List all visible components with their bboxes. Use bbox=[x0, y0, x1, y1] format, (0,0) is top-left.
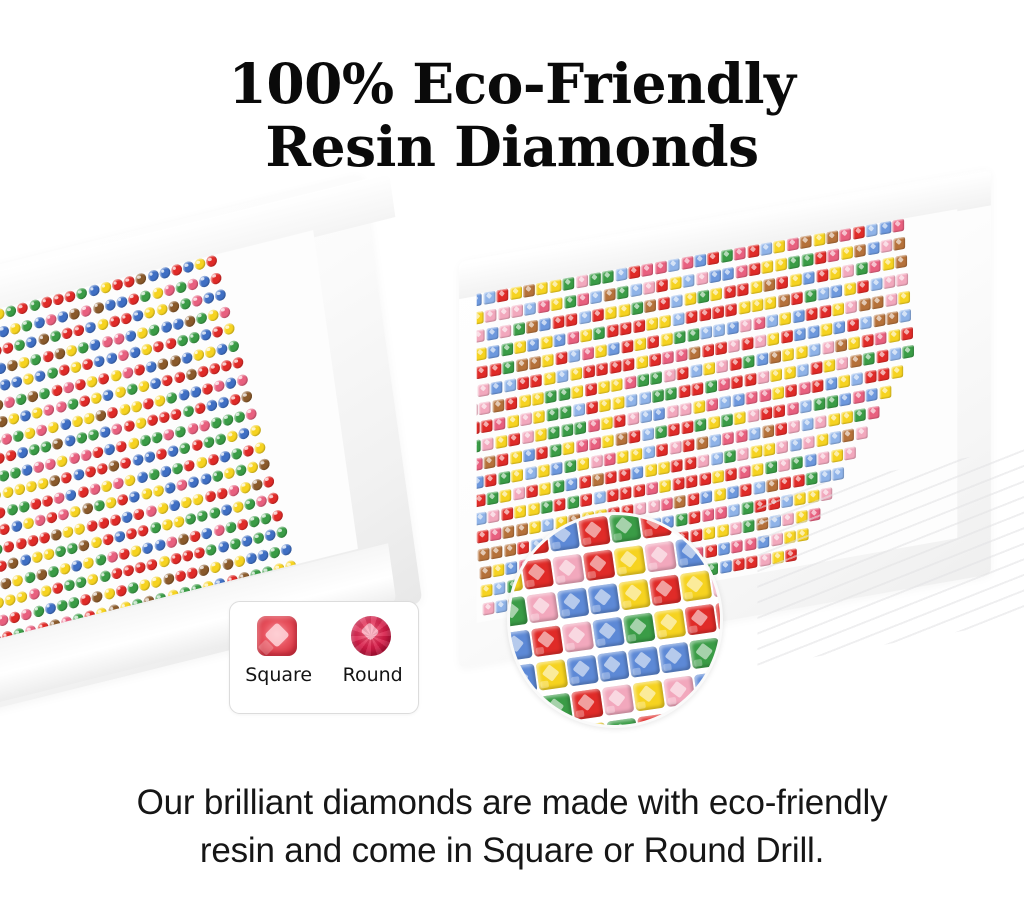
square-drill bbox=[793, 309, 805, 323]
round-drill bbox=[236, 517, 248, 531]
square-drill bbox=[753, 481, 765, 495]
square-drill bbox=[771, 532, 783, 546]
round-drill bbox=[74, 522, 86, 536]
square-drill bbox=[514, 340, 526, 354]
round-drill bbox=[111, 422, 123, 436]
round-drill bbox=[40, 584, 52, 598]
square-drill bbox=[794, 327, 806, 341]
round-drill bbox=[5, 304, 17, 318]
square-drill bbox=[692, 382, 704, 396]
round-drill bbox=[176, 478, 188, 492]
square-drill bbox=[659, 479, 671, 493]
round-drill bbox=[17, 301, 29, 315]
round-drill bbox=[0, 432, 12, 446]
square-drill bbox=[797, 528, 809, 542]
square-drill bbox=[713, 323, 725, 337]
round-drill bbox=[93, 499, 105, 513]
round-drill bbox=[3, 539, 15, 553]
magnified-square-drill bbox=[510, 697, 543, 728]
square-drill bbox=[757, 370, 769, 384]
round-drill bbox=[34, 369, 46, 383]
round-drill bbox=[71, 414, 83, 428]
square-drill bbox=[813, 397, 825, 411]
round-drill bbox=[223, 466, 235, 480]
square-drill bbox=[495, 435, 507, 449]
round-drill bbox=[186, 421, 198, 435]
round-drill bbox=[191, 438, 203, 452]
round-drill bbox=[26, 533, 38, 547]
round-drill bbox=[198, 274, 210, 288]
round-drill bbox=[139, 433, 151, 447]
round-drill bbox=[4, 593, 16, 607]
round-drill bbox=[86, 519, 98, 533]
square-drill bbox=[709, 269, 721, 283]
round-drill bbox=[121, 366, 133, 380]
square-drill bbox=[817, 287, 829, 301]
round-drill bbox=[177, 532, 189, 546]
round-drill bbox=[160, 464, 172, 478]
square-drill bbox=[854, 244, 866, 258]
square-drill bbox=[546, 407, 558, 421]
round-drill bbox=[104, 298, 116, 312]
round-drill bbox=[49, 474, 61, 488]
round-drill bbox=[239, 480, 251, 494]
square-drill bbox=[735, 264, 747, 278]
round-drill bbox=[75, 431, 87, 445]
round-drill bbox=[210, 560, 222, 574]
round-drill bbox=[74, 377, 86, 391]
square-drill bbox=[585, 382, 597, 396]
square-drill bbox=[661, 332, 673, 346]
drill-shape-legend: Square Round bbox=[229, 601, 419, 714]
round-drill bbox=[122, 564, 134, 578]
square-drill bbox=[477, 403, 478, 417]
square-drill bbox=[812, 379, 824, 393]
round-drill bbox=[151, 430, 163, 444]
round-drill bbox=[147, 269, 159, 283]
caption-line-1: Our brilliant diamonds are made with eco… bbox=[0, 779, 1024, 827]
square-drill bbox=[516, 358, 528, 372]
square-drill bbox=[885, 293, 897, 307]
square-drill bbox=[799, 381, 811, 395]
round-drill bbox=[233, 554, 245, 568]
round-drill bbox=[64, 434, 76, 448]
square-drill bbox=[819, 305, 831, 319]
square-drill bbox=[844, 282, 856, 296]
square-drill bbox=[659, 314, 671, 328]
round-drill bbox=[89, 338, 101, 352]
product-caption: Our brilliant diamonds are made with eco… bbox=[0, 779, 1024, 875]
round-drill bbox=[21, 463, 33, 477]
square-drill bbox=[756, 517, 768, 531]
round-drill bbox=[117, 493, 129, 507]
square-drill bbox=[870, 277, 882, 291]
square-drill bbox=[477, 511, 487, 525]
round-drill bbox=[33, 460, 45, 474]
round-drill bbox=[114, 530, 126, 544]
square-drill bbox=[520, 412, 532, 426]
square-drill bbox=[867, 406, 879, 420]
round-drill bbox=[191, 294, 203, 308]
magnified-square-drill bbox=[545, 726, 578, 728]
square-drill bbox=[806, 307, 818, 321]
square-drill bbox=[607, 488, 619, 502]
square-drill bbox=[671, 294, 683, 308]
square-drill bbox=[602, 270, 614, 284]
square-drill bbox=[652, 389, 664, 403]
magnified-square-drill bbox=[507, 562, 523, 594]
square-drill bbox=[815, 250, 827, 264]
square-drill bbox=[822, 341, 834, 355]
round-drill bbox=[162, 572, 174, 586]
square-drill bbox=[790, 273, 802, 287]
square-drill bbox=[797, 363, 809, 377]
round-drill bbox=[53, 346, 65, 360]
round-drill bbox=[0, 469, 9, 483]
square-drill bbox=[854, 408, 866, 422]
magnified-square-drill bbox=[668, 709, 701, 728]
square-drill bbox=[762, 424, 774, 438]
round-drill bbox=[43, 403, 55, 417]
round-drill bbox=[163, 283, 175, 297]
square-drill bbox=[669, 276, 681, 290]
round-gem-icon bbox=[351, 616, 391, 656]
square-drill bbox=[901, 327, 913, 341]
round-drill bbox=[195, 455, 207, 469]
square-drill bbox=[895, 255, 907, 269]
square-drill bbox=[661, 497, 673, 511]
square-drill bbox=[712, 470, 724, 484]
square-drill bbox=[725, 303, 737, 317]
round-drill bbox=[47, 564, 59, 578]
round-drill bbox=[198, 563, 210, 577]
round-drill bbox=[18, 355, 30, 369]
magnified-square-drill bbox=[684, 604, 717, 636]
round-drill bbox=[102, 388, 114, 402]
square-drill bbox=[728, 503, 740, 517]
round-drill bbox=[138, 380, 150, 394]
round-drill bbox=[105, 496, 117, 510]
square-gem-icon bbox=[257, 616, 297, 656]
round-drill bbox=[41, 494, 53, 508]
square-drill bbox=[542, 353, 554, 367]
square-drill bbox=[615, 432, 627, 446]
round-drill bbox=[4, 449, 16, 463]
magnified-square-drill bbox=[675, 536, 708, 568]
square-drill bbox=[541, 500, 553, 514]
square-drill bbox=[768, 496, 780, 510]
square-drill bbox=[513, 486, 525, 500]
square-drill bbox=[702, 343, 714, 357]
square-drill bbox=[677, 366, 689, 380]
round-drill bbox=[66, 542, 78, 556]
square-drill bbox=[708, 251, 720, 265]
round-drill bbox=[174, 424, 186, 438]
round-drill bbox=[71, 559, 83, 573]
square-drill bbox=[818, 451, 830, 465]
square-drill bbox=[645, 299, 657, 313]
square-drill bbox=[525, 466, 537, 480]
square-drill bbox=[526, 484, 538, 498]
square-drill bbox=[809, 507, 821, 521]
round-drill bbox=[6, 503, 18, 517]
square-drill bbox=[803, 271, 815, 285]
round-drill bbox=[216, 342, 228, 356]
square-drill bbox=[810, 361, 822, 375]
square-drill bbox=[775, 422, 787, 436]
round-drill bbox=[170, 552, 182, 566]
round-drill bbox=[0, 361, 7, 375]
square-drill bbox=[497, 288, 509, 302]
round-drill bbox=[264, 528, 276, 542]
square-drill bbox=[700, 325, 712, 339]
round-drill bbox=[217, 540, 229, 554]
square-drill bbox=[643, 281, 655, 295]
round-drill bbox=[247, 461, 259, 475]
round-drill bbox=[9, 321, 21, 335]
round-drill bbox=[152, 340, 164, 354]
round-drill bbox=[67, 397, 79, 411]
square-drill bbox=[687, 492, 699, 506]
square-drill bbox=[665, 387, 677, 401]
round-drill bbox=[0, 505, 6, 519]
round-drill bbox=[144, 306, 156, 320]
square-drill bbox=[588, 418, 600, 432]
square-drill bbox=[483, 455, 495, 469]
round-drill bbox=[108, 315, 120, 329]
square-drill bbox=[645, 463, 657, 477]
square-drill bbox=[501, 342, 513, 356]
square-drill bbox=[684, 456, 696, 470]
round-drill bbox=[29, 497, 41, 511]
round-drill bbox=[99, 281, 111, 295]
magnified-square-drill bbox=[637, 713, 670, 728]
square-drill bbox=[763, 442, 775, 456]
square-drill bbox=[771, 368, 783, 382]
round-drill bbox=[137, 524, 149, 538]
round-drill bbox=[92, 301, 104, 315]
square-drill bbox=[598, 380, 610, 394]
square-drill bbox=[494, 581, 506, 595]
square-drill bbox=[485, 309, 497, 323]
square-drill bbox=[759, 388, 771, 402]
round-drill bbox=[219, 305, 231, 319]
square-drill bbox=[533, 410, 545, 424]
round-drill bbox=[61, 326, 73, 340]
round-drill bbox=[62, 525, 74, 539]
square-drill bbox=[560, 405, 572, 419]
square-drill bbox=[630, 283, 642, 297]
round-drill bbox=[220, 503, 232, 517]
square-drill bbox=[734, 411, 746, 425]
square-drill bbox=[689, 346, 701, 360]
round-drill bbox=[269, 545, 281, 559]
square-drill bbox=[477, 293, 482, 307]
square-drill bbox=[883, 275, 895, 289]
round-drill bbox=[189, 529, 201, 543]
round-drill bbox=[168, 498, 180, 512]
square-drill bbox=[605, 306, 617, 320]
round-drill bbox=[194, 257, 206, 271]
square-drill bbox=[526, 320, 538, 334]
square-drill bbox=[539, 482, 551, 496]
round-drill bbox=[7, 556, 19, 570]
square-drill bbox=[477, 311, 484, 325]
square-drill bbox=[482, 437, 494, 451]
round-drill bbox=[252, 531, 264, 545]
round-drill bbox=[153, 538, 165, 552]
square-drill bbox=[840, 392, 852, 406]
square-drill bbox=[760, 406, 772, 420]
round-drill bbox=[207, 452, 219, 466]
square-drill bbox=[602, 434, 614, 448]
square-drill bbox=[477, 475, 484, 489]
square-drill bbox=[746, 391, 758, 405]
square-drill bbox=[523, 448, 535, 462]
square-drill bbox=[807, 489, 819, 503]
square-drill bbox=[760, 242, 772, 256]
round-drill bbox=[237, 373, 249, 387]
square-drill bbox=[859, 298, 871, 312]
round-drill bbox=[164, 481, 176, 495]
square-drill bbox=[601, 416, 613, 430]
round-drill bbox=[18, 500, 30, 514]
square-drill bbox=[477, 365, 488, 379]
round-drill bbox=[222, 413, 234, 427]
round-drill bbox=[90, 536, 102, 550]
square-drill bbox=[681, 256, 693, 270]
round-drill bbox=[134, 561, 146, 575]
round-drill bbox=[267, 491, 279, 505]
round-drill bbox=[51, 581, 63, 595]
product-marketing-image: 100% Eco-Friendly Resin Diamonds Square … bbox=[0, 0, 1024, 922]
round-drill bbox=[245, 407, 257, 421]
square-drill bbox=[709, 434, 721, 448]
round-drill bbox=[133, 507, 145, 521]
square-drill bbox=[869, 259, 881, 273]
square-drill bbox=[612, 396, 624, 410]
round-drill bbox=[248, 514, 260, 528]
round-drill bbox=[3, 395, 15, 409]
square-drill bbox=[821, 487, 833, 501]
square-drill bbox=[873, 313, 885, 327]
round-drill bbox=[24, 426, 36, 440]
round-drill bbox=[259, 458, 271, 472]
round-drill bbox=[23, 570, 35, 584]
round-drill bbox=[93, 354, 105, 368]
round-drill bbox=[88, 284, 100, 298]
square-drill bbox=[826, 395, 838, 409]
square-drill bbox=[719, 395, 731, 409]
round-drill bbox=[174, 569, 186, 583]
round-drill bbox=[15, 536, 27, 550]
round-drill bbox=[148, 323, 160, 337]
square-drill bbox=[876, 349, 888, 363]
square-drill bbox=[750, 445, 762, 459]
square-drill bbox=[796, 510, 808, 524]
legend-swatches bbox=[230, 616, 418, 656]
square-drill bbox=[529, 356, 541, 370]
square-drill bbox=[787, 402, 799, 416]
square-drill bbox=[522, 430, 534, 444]
round-drill bbox=[46, 366, 58, 380]
square-drill bbox=[478, 548, 490, 562]
square-drill bbox=[483, 291, 495, 305]
round-drill bbox=[123, 275, 135, 289]
square-drill bbox=[861, 334, 873, 348]
square-drill bbox=[535, 428, 547, 442]
square-drill bbox=[508, 432, 520, 446]
square-drill bbox=[712, 305, 724, 319]
round-drill bbox=[158, 555, 170, 569]
round-drill bbox=[89, 482, 101, 496]
round-drill bbox=[181, 351, 193, 365]
round-drill bbox=[242, 444, 254, 458]
magnified-square-drill bbox=[614, 545, 647, 577]
round-drill bbox=[231, 447, 243, 461]
round-drill bbox=[68, 307, 80, 321]
square-drill bbox=[558, 387, 570, 401]
square-drill bbox=[482, 602, 494, 616]
square-drill bbox=[741, 501, 753, 515]
square-drill bbox=[532, 392, 544, 406]
square-drill bbox=[478, 383, 490, 397]
round-drill bbox=[16, 590, 28, 604]
square-drill bbox=[823, 359, 835, 373]
square-drill bbox=[891, 365, 903, 379]
round-drill bbox=[182, 549, 194, 563]
round-drill bbox=[170, 263, 182, 277]
square-drill bbox=[629, 430, 641, 444]
square-drill bbox=[646, 481, 658, 495]
square-drill bbox=[801, 417, 813, 431]
square-drill bbox=[800, 235, 812, 249]
round-drill bbox=[83, 556, 95, 570]
square-drill bbox=[774, 239, 786, 253]
round-drill bbox=[199, 472, 211, 486]
square-drill bbox=[523, 284, 535, 298]
round-drill bbox=[109, 513, 121, 527]
square-drill bbox=[734, 246, 746, 260]
square-drill bbox=[481, 584, 493, 598]
headline-line-2: Resin Diamonds bbox=[0, 115, 1024, 178]
round-drill bbox=[132, 309, 144, 323]
round-drill bbox=[22, 517, 34, 531]
round-drill bbox=[45, 312, 57, 326]
square-drill bbox=[649, 353, 661, 367]
square-drill bbox=[703, 362, 715, 376]
round-drill bbox=[44, 457, 56, 471]
magnified-square-drill bbox=[588, 583, 621, 615]
square-drill bbox=[699, 307, 711, 321]
round-drill bbox=[189, 385, 201, 399]
round-drill bbox=[43, 547, 55, 561]
round-drill bbox=[49, 329, 61, 343]
round-drill bbox=[128, 490, 140, 504]
square-drill bbox=[680, 402, 692, 416]
round-drill bbox=[111, 278, 123, 292]
square-drill bbox=[536, 446, 548, 460]
round-drill bbox=[50, 383, 62, 397]
square-drill bbox=[853, 390, 865, 404]
square-drill bbox=[563, 277, 575, 291]
square-drill bbox=[841, 246, 853, 260]
square-drill bbox=[782, 512, 794, 526]
round-drill bbox=[130, 399, 142, 413]
round-drill bbox=[185, 368, 197, 382]
square-drill bbox=[747, 409, 759, 423]
square-drill bbox=[866, 223, 878, 237]
